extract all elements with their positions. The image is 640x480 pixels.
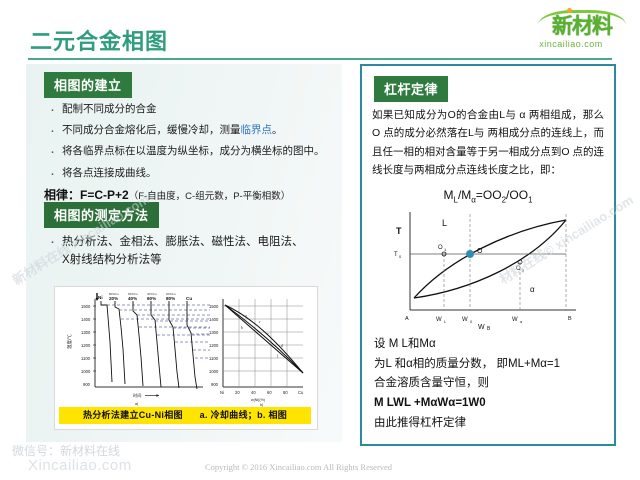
svg-text:900: 900 (211, 382, 219, 387)
svg-text:80%Cu: 80%Cu (109, 292, 119, 296)
establishment-bullet-list: 配制不同成分的合金 不同成分合金熔化后，缓慢冷却，测量临界点。 将各临界点标在以… (44, 96, 330, 187)
svg-text:1100: 1100 (209, 356, 219, 361)
bullet2-prefix: 不同成分合金熔化后，缓慢冷却，测量 (62, 124, 241, 136)
lever-rule-phase-diagram: T T0 L α O1 O O2 A B WL W0 Wα WB (380, 206, 596, 330)
phase-rule-label: 相律： (44, 188, 80, 202)
section-heading-establishment-wrap: 相图的建立 (44, 72, 132, 98)
svg-text:T: T (396, 226, 402, 236)
svg-text:Ni: Ni (220, 390, 224, 395)
svg-text:2: 2 (522, 268, 525, 273)
svg-text:20%Cu: 20%Cu (166, 292, 176, 296)
svg-text:Cu: Cu (298, 390, 304, 395)
lever-derivation-text: 设 M L和Mα 为L 和α相的质量分数， 即ML+Mα=1 合金溶质含量守恒，… (374, 334, 604, 433)
eq-sep2: /OO (506, 188, 528, 202)
copyright-text: Copyright © 2016 Xincailiao.com All Righ… (205, 462, 392, 472)
phase-rule-formula: F=C-P+2 (80, 188, 129, 202)
derivation-line-3: 合金溶质含量守恒，则 (374, 374, 604, 393)
svg-text:1200: 1200 (209, 343, 219, 348)
brand-logo[interactable]: 新材料 xincailiao.com (510, 6, 632, 54)
section-heading-measurement: 相图的测定方法 (44, 202, 159, 228)
svg-text:d: d (281, 344, 283, 348)
lever-line-2: 点的成分必然落在L与 两相成分点的连线上，而 (383, 127, 604, 139)
derivation-line-1: 设 M L和Mα (374, 335, 604, 354)
svg-text:O: O (438, 245, 443, 251)
eq-num1: M (443, 188, 453, 202)
phase-rule-note: （F-自由度，C-组元数，P-平衡相数） (129, 191, 291, 202)
eq-equals: =OO (476, 188, 502, 202)
svg-text:L: L (442, 218, 447, 228)
svg-text:T: T (394, 252, 398, 258)
measurement-line2: X射线结构分析法等 (62, 254, 162, 266)
phase-rule-formula-line: 相律：F=C-P+2（F-自由度，C-组元数，P-平衡相数） (44, 186, 334, 203)
svg-text:1000: 1000 (81, 369, 91, 374)
list-item: 热分析法、金相法、膨胀法、磁性法、电阻法、 X射线结构分析法等 (44, 233, 330, 270)
svg-text:w(Ni)(%): w(Ni)(%) (251, 398, 265, 402)
eq-sub4: 1 (528, 195, 532, 204)
svg-text:Ni: Ni (98, 295, 103, 300)
svg-text:b: b (241, 326, 243, 330)
svg-text:α: α (530, 285, 535, 294)
page-title: 二元合金相图 (30, 24, 168, 56)
svg-text:温度/℃: 温度/℃ (66, 334, 73, 349)
lever-rule-body-text: 如果已知成分为O的合金由L与 α 两相组成，那么O 点的成分必然落在L与 两相成… (372, 106, 604, 180)
measurement-bullet-list: 热分析法、金相法、膨胀法、磁性法、电阻法、 X射线结构分析法等 (44, 227, 330, 276)
section-heading-lever-wrap: 杠杆定律 (374, 76, 448, 102)
measurement-line1: 热分析法、金相法、膨胀法、磁性法、电阻法、 (62, 236, 304, 248)
svg-text:O: O (516, 266, 521, 272)
svg-text:W: W (462, 317, 468, 323)
section-heading-establishment: 相图的建立 (44, 72, 132, 98)
cooling-curve-figure: 1500 1400 1300 1200 1100 1000 900 温度/℃ N… (54, 286, 318, 430)
svg-text:1300: 1300 (209, 330, 219, 335)
svg-text:40: 40 (251, 390, 256, 395)
page-footer: 微信号：新材料在线 Xincailiao.com Copyright © 201… (0, 440, 640, 480)
svg-text:1000: 1000 (209, 369, 219, 374)
section-heading-measurement-wrap: 相图的测定方法 (44, 202, 159, 228)
svg-text:1: 1 (444, 247, 447, 252)
svg-text:80%: 80% (166, 296, 175, 301)
svg-text:a: a (245, 314, 247, 318)
svg-text:1400: 1400 (209, 317, 219, 322)
svg-text:A: A (405, 316, 409, 322)
derivation-line-5: 由此推得杠杆定律 (374, 414, 604, 433)
svg-text:40%Cu: 40%Cu (147, 292, 157, 296)
svg-text:60%Cu: 60%Cu (128, 292, 138, 296)
lever-rule-equation: ML/Mα=OO2/OO1 (372, 188, 604, 204)
logo-mountain-icon: 新材料 (520, 8, 628, 38)
svg-text:0: 0 (470, 319, 473, 324)
right-content-panel: 杠杆定律 如果已知成分为O的合金由L与 α 两相组成，那么O 点的成分必然落在L… (360, 64, 616, 446)
derivation-line-4: M LWL +MαWα=1W0 (374, 394, 604, 413)
svg-text:α: α (520, 319, 523, 324)
svg-text:900: 900 (83, 382, 91, 387)
derivation-line-2: 为L 和α相的质量分数， 即ML+Mα=1 (374, 355, 604, 374)
bullet2-highlight: 临界点 (241, 124, 273, 136)
svg-text:L: L (444, 319, 447, 324)
figure-caption-sub: a. 冷却曲线；b. 相图 (200, 410, 287, 420)
svg-text:f: f (277, 354, 279, 358)
svg-text:O: O (477, 248, 483, 255)
svg-text:60: 60 (267, 390, 272, 395)
lever-line-3: 且任一相的相对含量等于另一相成分点到O 点的连 (372, 146, 604, 158)
svg-text:20: 20 (235, 390, 240, 395)
svg-text:W: W (512, 317, 518, 323)
footer-site-text: Xincailiao.com (28, 457, 132, 474)
left-content-panel: 相图的建立 配制不同成分的合金 不同成分合金熔化后，缓慢冷却，测量临界点。 将各… (26, 64, 342, 442)
cooling-curve-svg: 1500 1400 1300 1200 1100 1000 900 温度/℃ N… (55, 287, 317, 407)
logo-url-text: xincailiao.com (510, 39, 632, 49)
svg-text:B: B (568, 316, 572, 322)
figure-caption: 热分析法建立Cu-Ni相图 a. 冷却曲线；b. 相图 (59, 407, 311, 424)
svg-text:60%: 60% (147, 296, 156, 301)
eq-sep1: /M (458, 188, 471, 202)
svg-text:W: W (478, 324, 485, 330)
svg-text:40%: 40% (128, 296, 137, 301)
lever-line-4: 线长度与两相成分点连线长度之比，即： (372, 164, 561, 176)
list-item: 不同成分合金熔化后，缓慢冷却，测量临界点。 (44, 123, 330, 138)
svg-text:a): a) (135, 402, 138, 406)
svg-text:1500: 1500 (209, 304, 219, 309)
svg-text:1100: 1100 (81, 356, 91, 361)
svg-text:W: W (436, 317, 442, 323)
svg-text:Cu: Cu (186, 296, 192, 301)
logo-brand-text: 新材料 (528, 14, 636, 40)
logo-sun-dot-icon (567, 8, 572, 13)
section-heading-lever-rule: 杠杆定律 (374, 76, 448, 102)
figure-caption-main: 热分析法建立Cu-Ni相图 (83, 410, 183, 420)
svg-text:B: B (487, 326, 491, 330)
svg-text:时间: 时间 (133, 392, 141, 399)
svg-text:c: c (259, 320, 261, 324)
list-item: 将各临界点标在以温度为纵坐标，成分为横坐标的图中。 (44, 144, 330, 159)
header-divider (28, 58, 612, 60)
bullet2-suffix: 。 (272, 124, 283, 136)
svg-text:1300: 1300 (81, 330, 91, 335)
svg-text:1200: 1200 (81, 343, 91, 348)
svg-text:1400: 1400 (81, 317, 91, 322)
list-item: 配制不同成分的合金 (44, 102, 330, 117)
page-header: 二元合金相图 新材料 xincailiao.com (0, 0, 640, 62)
list-item: 将各点连接成曲线。 (44, 166, 330, 181)
svg-text:20%: 20% (109, 296, 118, 301)
svg-text:1500: 1500 (81, 304, 91, 309)
svg-text:80: 80 (283, 390, 288, 395)
svg-text:0: 0 (399, 254, 402, 259)
